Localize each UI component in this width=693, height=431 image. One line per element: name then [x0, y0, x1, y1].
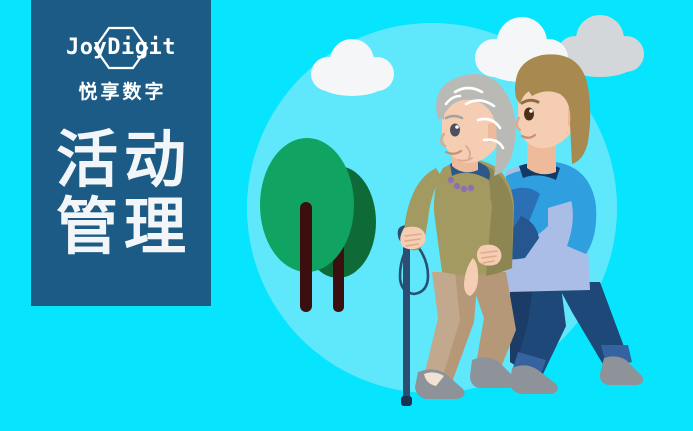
- logo-wordmark: JoyDigit: [66, 37, 176, 59]
- brand-logo: JoyDigit 悦享数字: [52, 26, 190, 104]
- logo-mark: JoyDigit: [52, 26, 190, 70]
- poster-banner: JoyDigit 悦享数字 活动 管理: [0, 0, 693, 431]
- young-man-eye-highlight: [529, 109, 533, 113]
- page-title-line-2: 管理: [50, 197, 192, 258]
- elderly-eye-highlight: [455, 125, 459, 129]
- elderly-eye: [450, 124, 460, 137]
- young-man-eye: [524, 108, 534, 121]
- title-panel: JoyDigit 悦享数字 活动 管理: [31, 0, 211, 306]
- page-title-line-1: 活动: [50, 130, 192, 191]
- logo-chinese-name: 悦享数字: [75, 77, 166, 104]
- elderly-hand-on-cane: [400, 227, 425, 250]
- page-title: 活动 管理: [50, 130, 192, 258]
